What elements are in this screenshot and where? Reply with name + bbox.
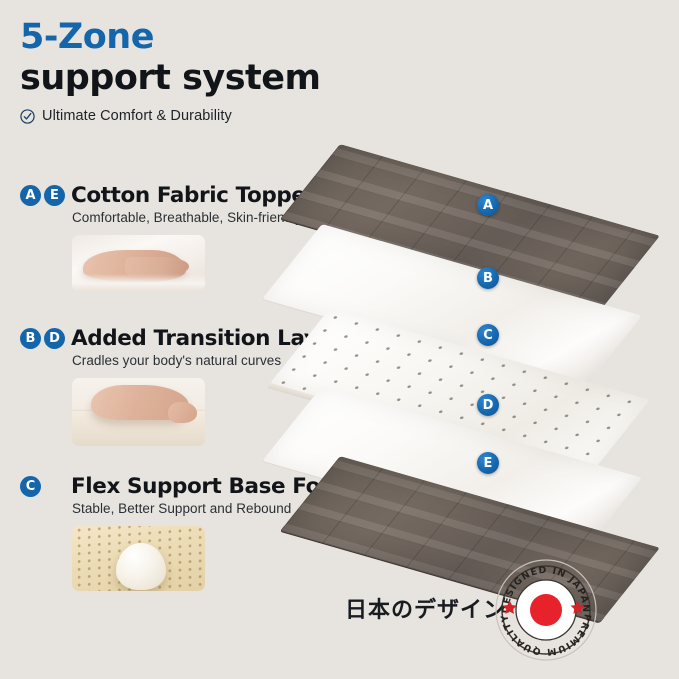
- badge-letter-e: E: [44, 185, 65, 206]
- seal-flag-sun: [530, 594, 562, 626]
- layer-marker-d: D: [477, 394, 499, 416]
- feature-title: Cotton Fabric Topper: [71, 183, 316, 208]
- layer-marker-e: E: [477, 452, 499, 474]
- thumb-fabric-fold: [72, 274, 205, 291]
- hand-on-white-bedding-photo: [72, 235, 205, 291]
- badge-letter-b: B: [20, 328, 41, 349]
- badge-letter-d: D: [44, 328, 65, 349]
- egg-on-perforated-latex-foam-photo: [72, 526, 205, 591]
- page-title-line2: support system: [20, 61, 440, 96]
- designed-in-japan-seal: DESIGNED IN JAPAN PREMIUM QUALITY: [493, 557, 599, 663]
- feature-badges: C: [20, 476, 65, 497]
- header: 5-Zone support system Ultimate Comfort &…: [20, 20, 440, 124]
- page-title-line1: 5-Zone: [20, 20, 440, 55]
- layer-marker-a: A: [477, 194, 499, 216]
- badge-letter-a: A: [20, 185, 41, 206]
- infographic-page: 5-Zone support system Ultimate Comfort &…: [0, 0, 679, 679]
- layer-marker-c: C: [477, 324, 499, 346]
- japanese-design-text: 日本のデザイン: [345, 592, 506, 624]
- layer-marker-b: B: [477, 267, 499, 289]
- feature-badges: A E: [20, 185, 65, 206]
- badge-letter-c: C: [20, 476, 41, 497]
- check-circle-icon: [20, 109, 35, 124]
- feature-badges: B D: [20, 328, 65, 349]
- thumb-thumb-shape: [168, 402, 197, 422]
- exploded-mattress-layer-diagram: A B C D E: [318, 140, 679, 560]
- subtitle-text: Ultimate Comfort & Durability: [42, 108, 232, 124]
- subtitle-row: Ultimate Comfort & Durability: [20, 108, 440, 124]
- hand-pressing-memory-foam-photo: [72, 378, 205, 446]
